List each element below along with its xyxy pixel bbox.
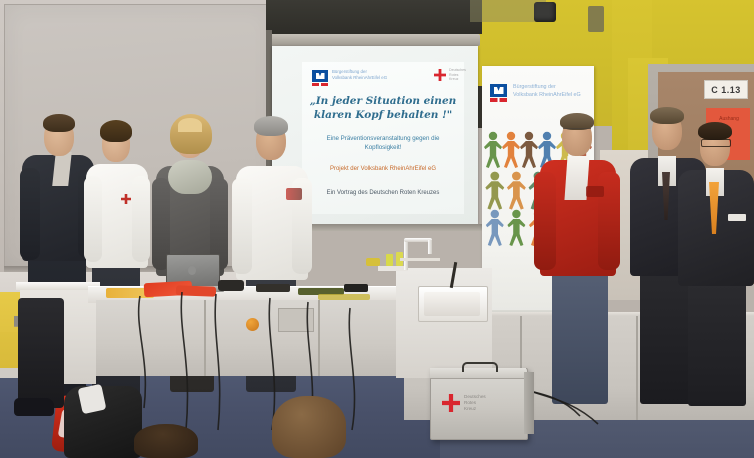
glasses-icon bbox=[701, 139, 731, 147]
slide-org-left-line2: Volksbank RheinAhrEifel eG bbox=[332, 75, 424, 81]
bench-yellow-object bbox=[366, 258, 380, 266]
slide-title: „In jeder Situation einen klaren Kopf be… bbox=[306, 94, 460, 122]
slide-org-right-line3: Kreuz bbox=[449, 77, 471, 82]
audience-head-back-left bbox=[134, 424, 198, 458]
drk-logo-on-fleece bbox=[586, 186, 604, 197]
first-aid-case-text: Deutsches Rotes Kreuz bbox=[464, 394, 518, 412]
photo-scene: C 1.13 Aushang Bürgerstiftung der Volksb… bbox=[0, 0, 754, 458]
projection-screen-housing bbox=[268, 34, 480, 46]
ceiling-speaker bbox=[534, 2, 556, 22]
sink-basin-inner bbox=[424, 292, 480, 316]
faucet-crossbar bbox=[400, 258, 440, 261]
shoe-left bbox=[14, 398, 54, 416]
glasses-icon bbox=[563, 128, 591, 134]
ceiling-fixture bbox=[588, 6, 604, 32]
desk-item-dark bbox=[218, 280, 244, 291]
backpack-strap bbox=[78, 384, 107, 414]
faucet-stem bbox=[404, 240, 408, 270]
volksbank-logo-bars-icon bbox=[312, 83, 328, 86]
scarf bbox=[168, 160, 212, 194]
faucet-spout bbox=[428, 240, 432, 254]
red-cross-icon bbox=[434, 68, 446, 80]
banner-logo-bars-icon bbox=[490, 98, 507, 102]
name-badge bbox=[728, 214, 746, 221]
volksbank-logo-icon bbox=[312, 70, 328, 82]
drk-logo-on-sweatshirt bbox=[120, 192, 132, 204]
polo-logo bbox=[286, 188, 302, 200]
slide-org-left-text: Bürgerstiftung der Volksbank RheinAhrEif… bbox=[332, 69, 424, 81]
case-text-line3: Kreuz bbox=[464, 406, 518, 412]
laptop-logo-icon bbox=[188, 266, 196, 275]
room-number-sign: C 1.13 bbox=[704, 80, 748, 99]
slide-project-line: Projekt der Volksbank RheinAhrEifel eG bbox=[310, 166, 456, 172]
slide-org-right-text: Deutsches Rotes Kreuz bbox=[449, 68, 471, 82]
banner-headline-line1: Bürgerstiftung der bbox=[513, 84, 589, 92]
banner-volksbank-logo-icon bbox=[490, 84, 507, 97]
red-cross-icon bbox=[442, 394, 460, 412]
desk-item-dark2 bbox=[256, 284, 290, 292]
first-aid-case-side bbox=[524, 372, 534, 434]
bench-cables bbox=[120, 292, 420, 432]
desk-item-black bbox=[344, 284, 368, 292]
slide-subtitle: Eine Präventionsveranstaltung gegen die … bbox=[310, 134, 456, 152]
banner-headline-line2: Volksbank RheinAhrEifel eG bbox=[513, 92, 589, 100]
yellow-bottle bbox=[386, 254, 393, 266]
person-legs-left-edge bbox=[18, 298, 64, 408]
audience-head-back-right bbox=[272, 396, 346, 458]
first-aid-case-handle[interactable] bbox=[462, 362, 498, 372]
banner-headline: Bürgerstiftung der Volksbank RheinAhrEif… bbox=[513, 84, 589, 99]
slide-talk-line: Ein Vortrag des Deutschen Roten Kreuzes bbox=[310, 190, 456, 196]
ceiling-beam bbox=[266, 0, 482, 34]
